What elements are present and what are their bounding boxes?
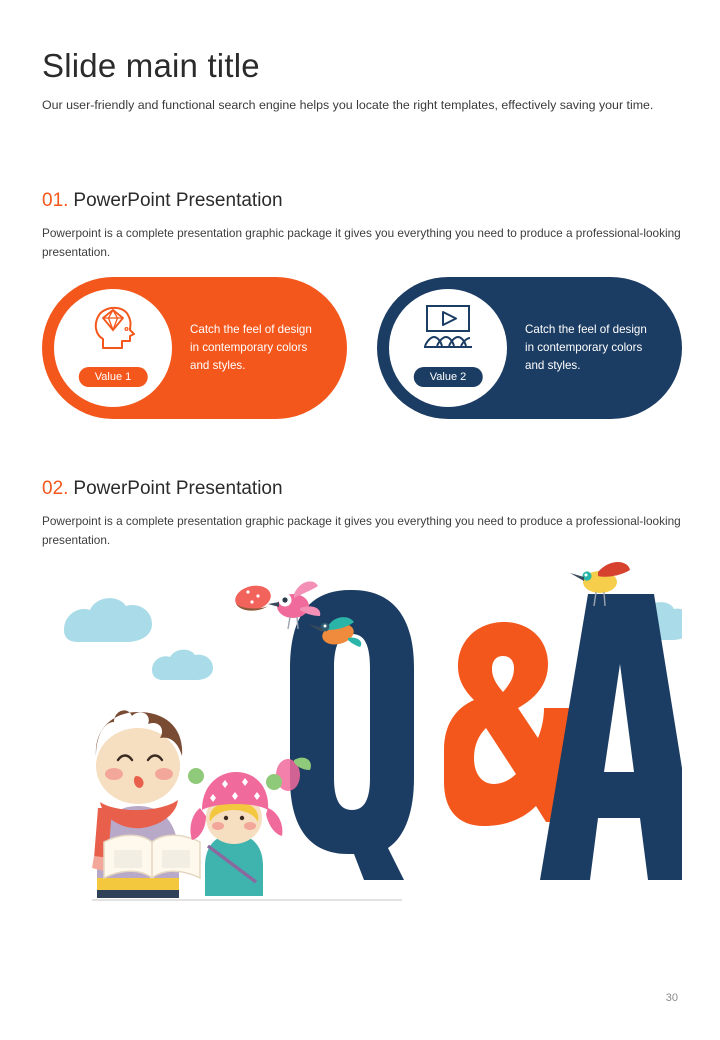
value-card-2-badge: Value 2 <box>414 367 483 387</box>
section-number-01: 01. <box>42 190 68 211</box>
value-card-1[interactable]: Value 1 Catch the feel of design in cont… <box>42 277 347 419</box>
cloud-large-icon <box>64 598 152 642</box>
value-card-1-circle: Value 1 <box>54 289 172 407</box>
qa-illustration <box>42 560 682 920</box>
value-cards-row: Value 1 Catch the feel of design in cont… <box>42 277 682 419</box>
value-card-2-circle: Value 2 <box>389 289 507 407</box>
value-card-2[interactable]: Value 2 Catch the feel of design in cont… <box>377 277 682 419</box>
page-title: Slide main title <box>42 48 260 84</box>
presentation-screen-audience-icon <box>420 301 476 355</box>
section-body-02: Powerpoint is a complete presentation gr… <box>42 512 682 550</box>
section-title-02: PowerPoint Presentation <box>73 478 282 499</box>
value-card-2-text: Catch the feel of design in contemporary… <box>525 321 650 375</box>
page-number: 30 <box>666 992 678 1004</box>
section-number-02: 02. <box>42 478 68 499</box>
section-heading-01: 01.PowerPoint Presentation <box>42 190 283 212</box>
head-with-diamond-icon <box>85 301 141 355</box>
value-card-1-text: Catch the feel of design in contemporary… <box>190 321 315 375</box>
child-girl-pink-hat <box>188 768 282 896</box>
cloud-small-icon <box>152 650 213 680</box>
child-boy-reading-book <box>92 710 200 898</box>
slide-subtitle: Our user-friendly and functional search … <box>42 95 682 115</box>
section-heading-02: 02.PowerPoint Presentation <box>42 478 283 500</box>
section-title-01: PowerPoint Presentation <box>73 190 282 211</box>
value-card-1-badge: Value 1 <box>79 367 148 387</box>
slide-canvas: Slide main title Our user-friendly and f… <box>0 0 720 1040</box>
section-body-01: Powerpoint is a complete presentation gr… <box>42 224 682 262</box>
